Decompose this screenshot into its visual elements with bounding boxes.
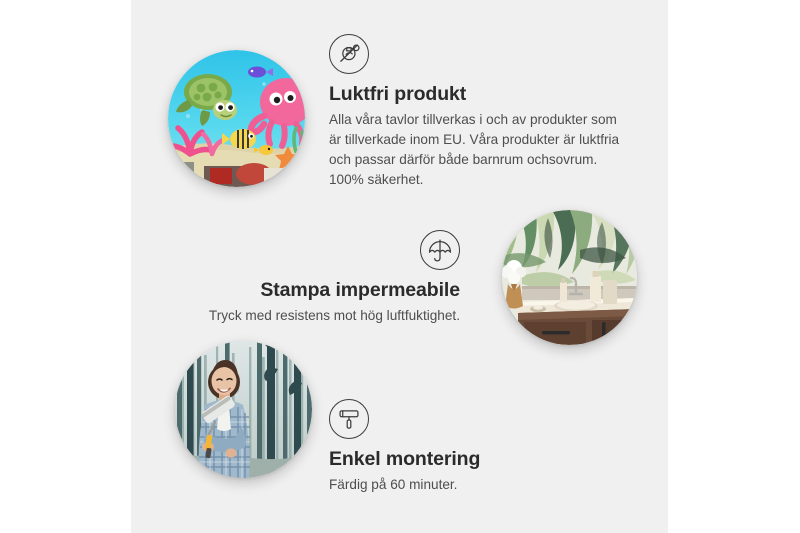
feature-title: Enkel montering: [329, 448, 609, 470]
feature-waterproof: Stampa impermeabile Tryck med resistens …: [195, 230, 460, 326]
feature-body: Alla våra tavlor tillverkas i och av pro…: [329, 110, 629, 189]
feature-body: Tryck med resistens mot hög luftfuktighe…: [195, 306, 460, 326]
feature-body: Färdig på 60 minuter.: [329, 475, 609, 495]
page-root: Luktfri produkt Alla våra tavlor tillver…: [0, 0, 800, 533]
feature-odor-free: Luktfri produkt Alla våra tavlor tillver…: [329, 34, 629, 189]
no-scent-perfume-bottle-icon: [329, 34, 369, 74]
feature-title: Stampa impermeabile: [195, 279, 460, 301]
feature-title: Luktfri produkt: [329, 83, 629, 105]
product-image-bathroom-botanical: [502, 210, 637, 345]
paint-roller-icon: [329, 399, 369, 439]
umbrella-icon: [420, 230, 460, 270]
feature-easy-mounting: Enkel montering Färdig på 60 minuter.: [329, 399, 609, 495]
product-image-underwater-mural: [168, 50, 305, 187]
product-image-woman-paint-roller: [175, 341, 312, 478]
